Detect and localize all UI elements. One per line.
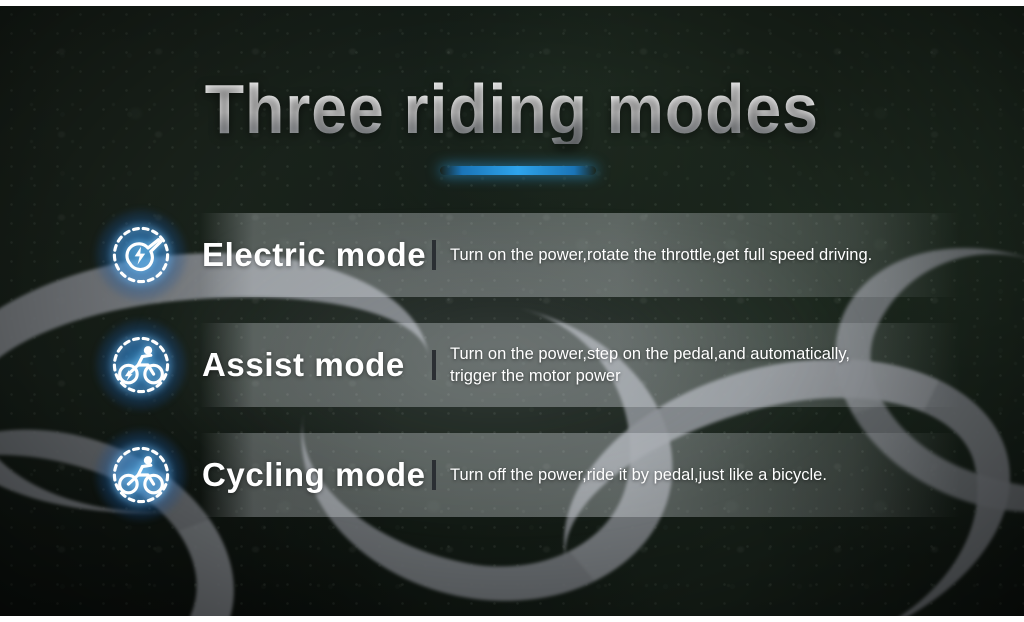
title-block: Three riding modes (0, 74, 1024, 144)
throttle-bolt-icon (106, 220, 176, 290)
mode-description: Turn off the power,ride it by pedal,just… (450, 464, 970, 486)
mode-icon-electric (106, 220, 176, 290)
mode-icon-cycling (106, 440, 176, 510)
mode-description: Turn on the power,rotate the throttle,ge… (450, 244, 970, 266)
mode-description-line: Turn on the power,rotate the throttle,ge… (450, 244, 970, 266)
cyclist-bolt-icon (106, 330, 176, 400)
mode-title: Electric mode (202, 236, 430, 274)
mode-separator (432, 460, 436, 490)
title-accent-underline (440, 166, 596, 175)
mode-title: Assist mode (202, 346, 430, 384)
mode-description: Turn on the power,step on the pedal,and … (450, 343, 970, 388)
bottom-white-strip (0, 616, 1024, 622)
top-white-strip (0, 0, 1024, 6)
mode-icon-assist (106, 330, 176, 400)
page-title: Three riding modes (205, 74, 819, 144)
mode-separator (432, 240, 436, 270)
riding-modes-infographic: Three riding modes Electric mode Turn on… (0, 0, 1024, 622)
mode-description-line: trigger the motor power (450, 365, 970, 387)
mode-description-line: Turn on the power,step on the pedal,and … (450, 343, 970, 365)
mode-separator (432, 350, 436, 380)
mode-title: Cycling mode (202, 456, 430, 494)
mode-description-line: Turn off the power,ride it by pedal,just… (450, 464, 970, 486)
cyclist-icon (106, 440, 176, 510)
